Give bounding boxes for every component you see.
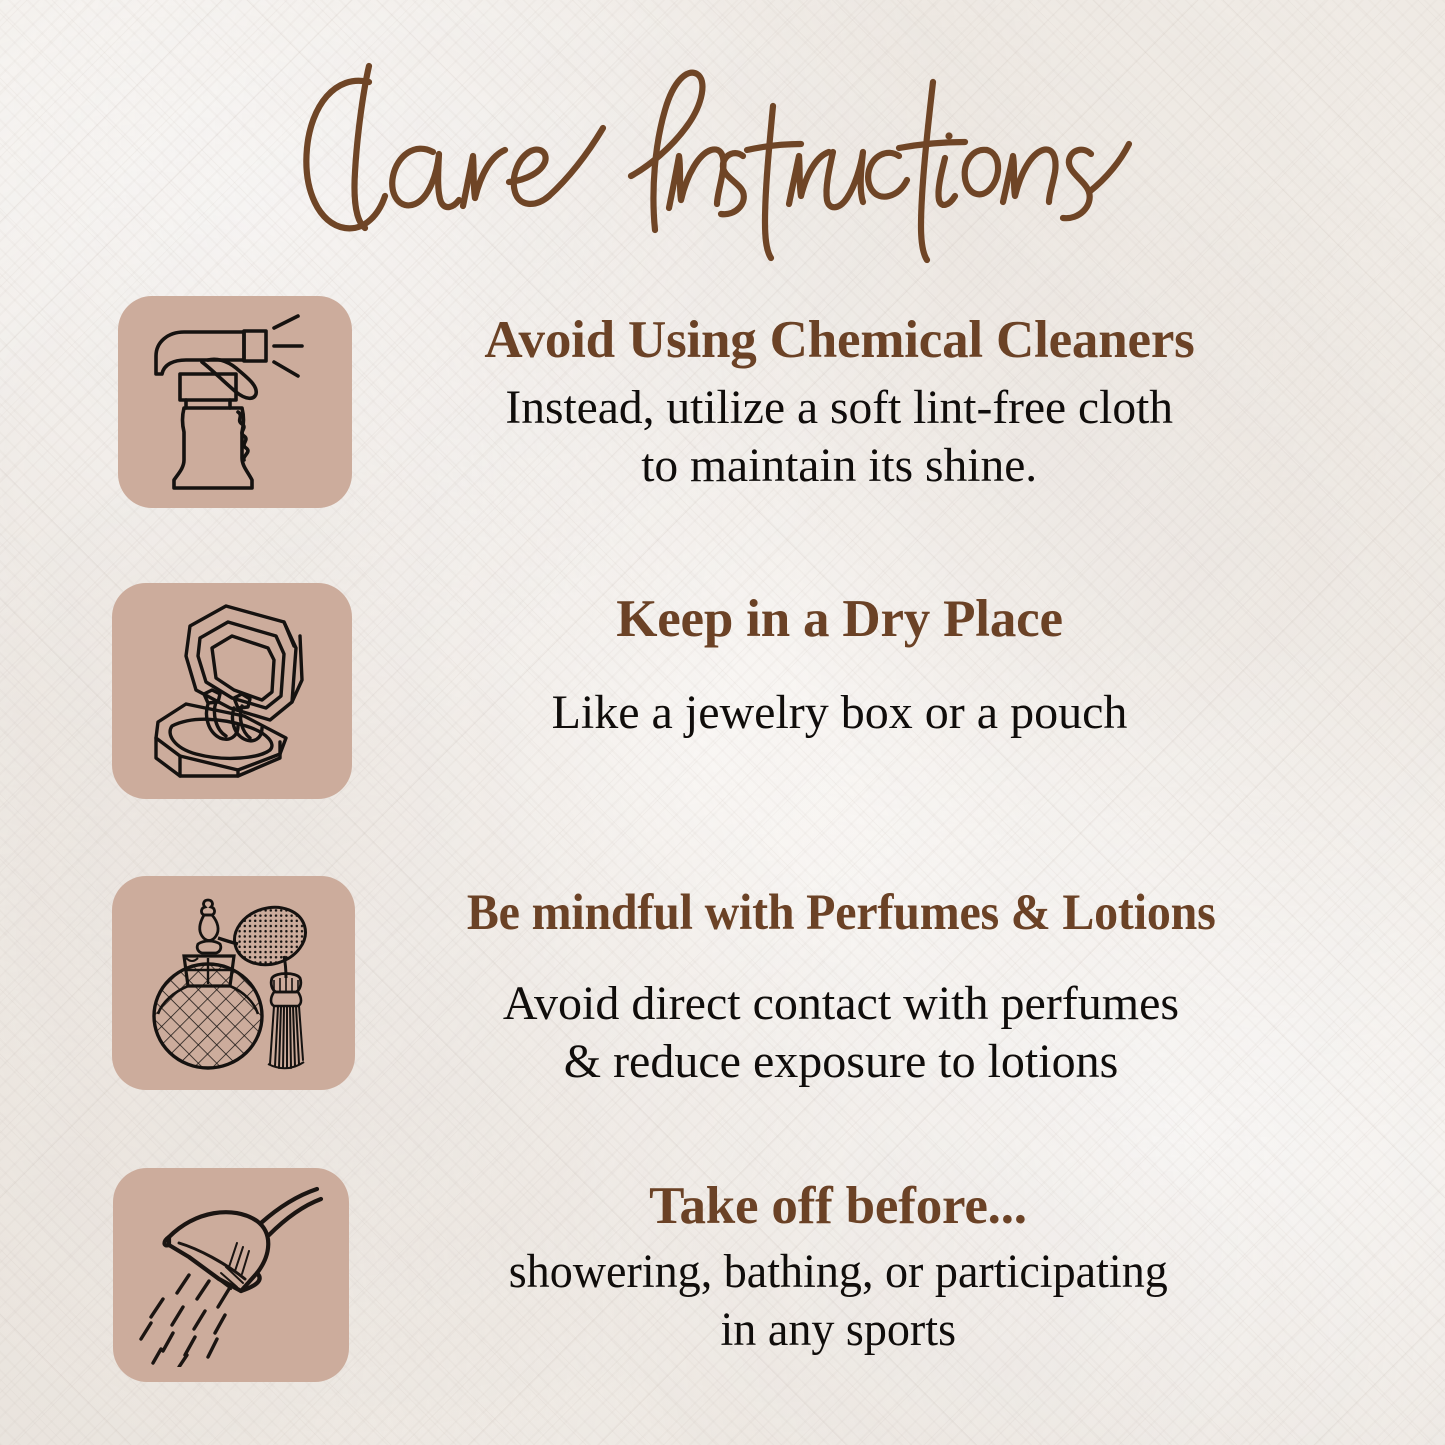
care-row-perfumes-lotions: Be mindful with Perfumes & Lotions Avoid… [0,876,1445,1090]
spray-bottle-icon-tile [118,296,352,508]
care-text-dry-place: Keep in a Dry Place Like a jewelry box o… [352,583,1445,742]
perfume-atomizer-icon-tile [112,876,355,1090]
shower-head-icon-tile [113,1168,349,1382]
care-heading: Avoid Using Chemical Cleaners [484,312,1194,369]
care-text-chemical-cleaners: Avoid Using Chemical Cleaners Instead, u… [352,296,1445,494]
care-text-take-off-before: Take off before... showering, bathing, o… [349,1168,1445,1358]
ring-box-icon [134,598,330,784]
care-row-chemical-cleaners: Avoid Using Chemical Cleaners Instead, u… [0,296,1445,508]
care-heading: Be mindful with Perfumes & Lotions [467,886,1216,941]
care-body: showering, bathing, or participating in … [508,1243,1167,1358]
title-script-lettering: Care Instructions [273,44,1173,274]
shower-head-icon [133,1183,329,1367]
care-row-take-off-before: Take off before... showering, bathing, o… [0,1168,1445,1382]
perfume-atomizer-icon [134,888,334,1078]
care-body: Like a jewelry box or a pouch [552,684,1128,742]
care-heading: Keep in a Dry Place [616,591,1063,648]
page-title: Care Instructions [0,44,1445,274]
care-text-perfumes-lotions: Be mindful with Perfumes & Lotions Avoid… [355,876,1445,1090]
care-body: Instead, utilize a soft lint-free cloth … [506,379,1174,494]
care-row-dry-place: Keep in a Dry Place Like a jewelry box o… [0,583,1445,799]
ring-box-icon-tile [112,583,352,799]
care-body: Avoid direct contact with perfumes & red… [503,975,1179,1090]
care-instructions-poster: Care Instructions [0,0,1445,1445]
spray-bottle-icon [140,312,330,492]
care-heading: Take off before... [649,1178,1027,1235]
